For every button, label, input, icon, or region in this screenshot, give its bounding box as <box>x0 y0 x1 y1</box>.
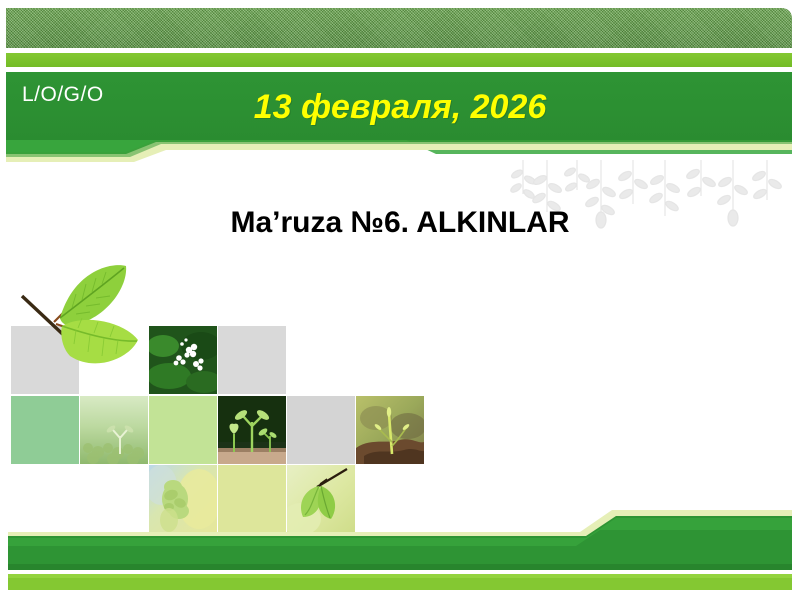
collage-tile-seedlings-in-soil-photo <box>218 396 286 464</box>
vine-9 <box>751 160 783 200</box>
vine-5 <box>617 160 649 204</box>
vine-1 <box>509 160 536 200</box>
header-lime-bar <box>6 53 792 67</box>
collage-tile-gray-swatch-a <box>218 326 286 394</box>
header-textured-bar <box>6 8 792 48</box>
photo-collage <box>0 260 450 530</box>
collage-tile-sprout-in-dirt-photo <box>356 396 424 464</box>
collage-tile-moss-sprout-photo <box>80 396 148 464</box>
date-heading: 13 февраля, 2026 <box>0 88 800 127</box>
collage-tile-gray-swatch-b <box>287 396 355 464</box>
collage-tile-gray-swatch-branch-leaf <box>11 326 79 394</box>
collage-tile-mint-green-swatch <box>11 396 79 464</box>
vine-2 <box>531 160 563 213</box>
slide-canvas: L/O/G/O 13 февраля, 2026 <box>0 0 800 600</box>
footer-angled-bars <box>0 500 800 600</box>
header-angled-step <box>6 140 792 162</box>
collage-tile-white-jasmine-flower <box>149 326 217 394</box>
vine-7 <box>685 160 717 198</box>
collage-tile-light-green-swatch <box>149 396 217 464</box>
page-title: Ma’ruza №6. ALKINLAR <box>0 206 800 240</box>
